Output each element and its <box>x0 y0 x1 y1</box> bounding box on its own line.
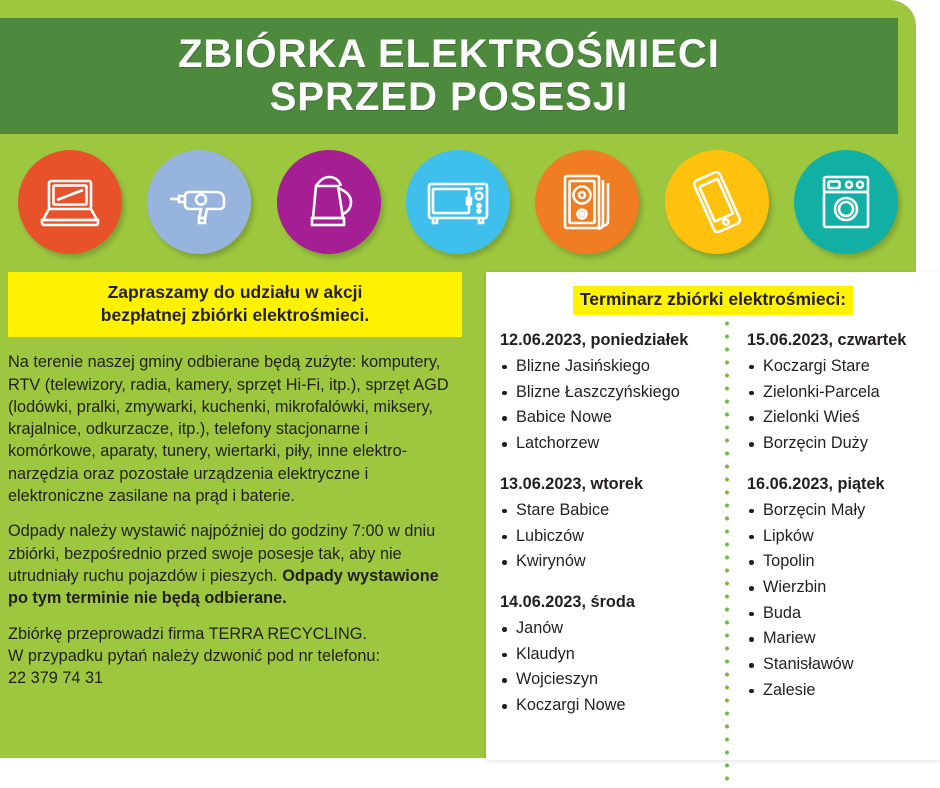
invitation-heading-line-2: bezpłatnej zbiórki elektrośmieci. <box>18 304 452 327</box>
schedule-heading: Terminarz zbiórki elektrośmieci: <box>573 286 853 315</box>
list-item: Zalesie <box>747 678 940 704</box>
poster: ZBIÓRKA ELEKTROŚMIECI SPRZED POSESJI <box>0 0 940 788</box>
washer-icon <box>794 150 898 254</box>
schedule-panel: Terminarz zbiórki elektrośmieci: 12.06.2… <box>486 272 940 760</box>
microwave-icon <box>406 150 510 254</box>
day-block: 16.06.2023, piątek Borzęcin Mały Lipków … <box>747 475 940 704</box>
day-date: 15.06.2023, czwartek <box>747 331 940 350</box>
invitation-heading: Zapraszamy do udziału w akcji bezpłatnej… <box>8 272 462 337</box>
day-block: 15.06.2023, czwartek Koczargi Stare Ziel… <box>747 331 940 457</box>
day-date: 16.06.2023, piątek <box>747 475 940 494</box>
place-list: Blizne Jasińskiego Blizne Łaszczyńskiego… <box>500 354 721 457</box>
list-item: Blizne Łaszczyńskiego <box>500 380 721 406</box>
rules-paragraph: Odpady należy wystawić najpóźniej do god… <box>8 520 460 609</box>
list-item: Zielonki-Parcela <box>747 380 940 406</box>
appliance-icon-row <box>0 146 916 258</box>
schedule-heading-wrap: Terminarz zbiórki elektrośmieci: <box>486 272 940 315</box>
list-item: Stanisławów <box>747 652 940 678</box>
contractor-paragraph: Zbiórkę przeprowadzi firma TERRA RECYCLI… <box>8 623 460 690</box>
list-item: Zielonki Wieś <box>747 405 940 431</box>
contractor-line-1: Zbiórkę przeprowadzi firma TERRA RECYCLI… <box>8 625 367 643</box>
schedule-column-1: 12.06.2023, poniedziałek Blizne Jasiński… <box>486 331 731 719</box>
place-list: Koczargi Stare Zielonki-Parcela Zielonki… <box>747 354 940 457</box>
list-item: Mariew <box>747 626 940 652</box>
invitation-heading-line-1: Zapraszamy do udziału w akcji <box>18 281 452 304</box>
day-block: 14.06.2023, środa Janów Klaudyn Wojciesz… <box>500 593 721 719</box>
contact-phone-number: 22 379 74 31 <box>8 667 103 689</box>
list-item: Stare Babice <box>500 498 721 524</box>
schedule-column-divider <box>725 317 729 783</box>
list-item: Koczargi Stare <box>747 354 940 380</box>
list-item: Janów <box>500 616 721 642</box>
list-item: Latchorzew <box>500 431 721 457</box>
list-item: Lipków <box>747 524 940 550</box>
list-item: Borzęcin Duży <box>747 431 940 457</box>
day-block: 12.06.2023, poniedziałek Blizne Jasiński… <box>500 331 721 457</box>
left-information-column: Zapraszamy do udziału w akcji bezpłatnej… <box>0 272 470 690</box>
list-item: Wierzbin <box>747 575 940 601</box>
list-item: Wojcieszyn <box>500 667 721 693</box>
list-item: Kwirynów <box>500 549 721 575</box>
day-block: 13.06.2023, wtorek Stare Babice Lubiczów… <box>500 475 721 575</box>
place-list: Borzęcin Mały Lipków Topolin Wierzbin Bu… <box>747 498 940 704</box>
day-date: 13.06.2023, wtorek <box>500 475 721 494</box>
schedule-columns: 12.06.2023, poniedziałek Blizne Jasiński… <box>486 315 940 719</box>
drill-icon <box>147 150 251 254</box>
smartphone-icon <box>665 150 769 254</box>
list-item: Blizne Jasińskiego <box>500 354 721 380</box>
day-date: 12.06.2023, poniedziałek <box>500 331 721 350</box>
accepted-items-paragraph: Na terenie naszej gminy odbierane będą z… <box>8 351 460 507</box>
poster-header-band: ZBIÓRKA ELEKTROŚMIECI SPRZED POSESJI <box>0 18 898 134</box>
day-date: 14.06.2023, środa <box>500 593 721 612</box>
list-item: Babice Nowe <box>500 405 721 431</box>
information-body: Na terenie naszej gminy odbierane będą z… <box>0 351 470 689</box>
kettle-icon <box>277 150 381 254</box>
schedule-column-2: 15.06.2023, czwartek Koczargi Stare Ziel… <box>731 331 940 719</box>
list-item: Lubiczów <box>500 524 721 550</box>
place-list: Stare Babice Lubiczów Kwirynów <box>500 498 721 575</box>
list-item: Borzęcin Mały <box>747 498 940 524</box>
list-item: Klaudyn <box>500 642 721 668</box>
header-title-line-1: ZBIÓRKA ELEKTROŚMIECI <box>178 33 720 76</box>
place-list: Janów Klaudyn Wojcieszyn Koczargi Nowe <box>500 616 721 719</box>
laptop-icon <box>18 150 122 254</box>
list-item: Buda <box>747 601 940 627</box>
header-title-line-2: SPRZED POSESJI <box>270 76 629 119</box>
speaker-icon <box>535 150 639 254</box>
list-item: Koczargi Nowe <box>500 693 721 719</box>
list-item: Topolin <box>747 549 940 575</box>
contractor-line-2: W przypadku pytań należy dzwonić pod nr … <box>8 647 380 665</box>
